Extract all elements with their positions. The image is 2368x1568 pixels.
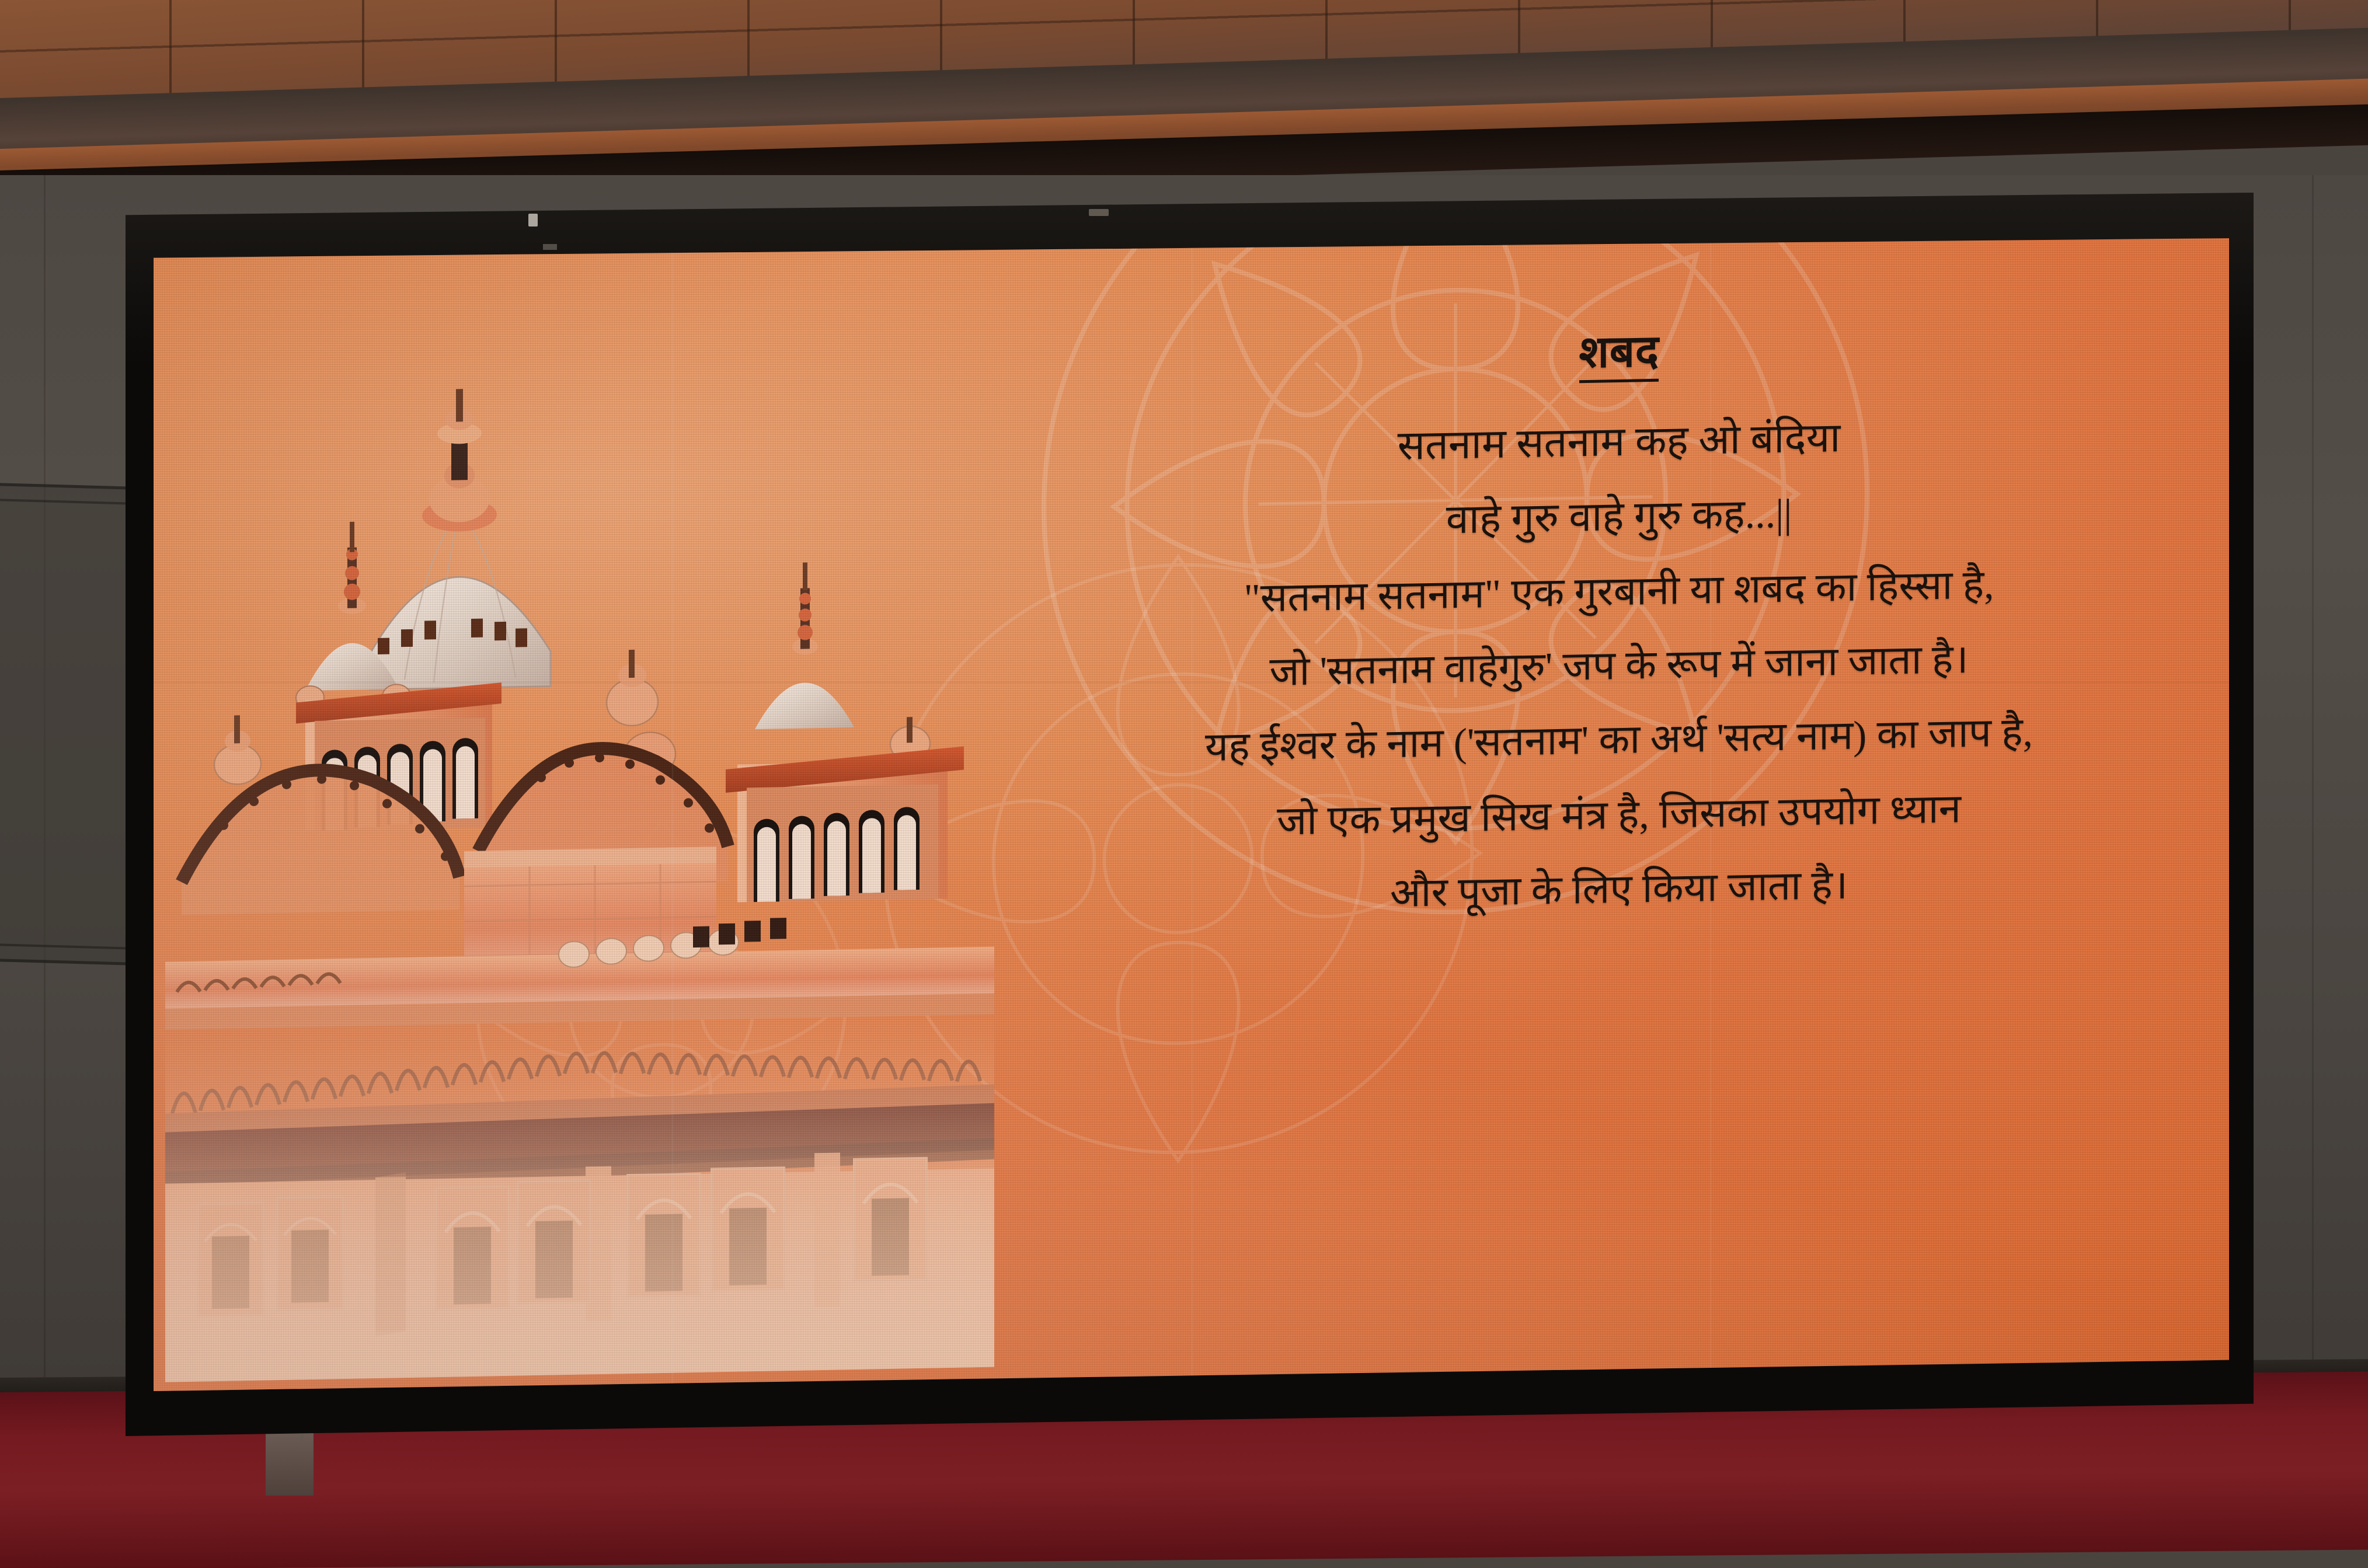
panel-module-seam — [1710, 238, 1711, 1391]
slide-surface[interactable]: शबद सतनाम सतनाम कह ओ बंदिया वाहे गुरु वा… — [154, 238, 2229, 1391]
led-video-wall[interactable]: शबद सतनाम सतनाम कह ओ बंदिया वाहे गुरु वा… — [126, 193, 2254, 1436]
slide-text-block: शबद सतनाम सतनाम कह ओ बंदिया वाहे गुरु वा… — [1047, 318, 2191, 953]
framed-wall-panel-inner — [0, 498, 130, 949]
bezel-marking — [543, 244, 557, 250]
framed-wall-panel — [0, 482, 146, 966]
gurdwara-temple-illustration — [165, 293, 994, 1382]
slide-line-2: वाहे गुरु वाहे गुरु कह...|| — [1047, 485, 2191, 549]
floor-box — [266, 1431, 314, 1496]
panel-module-seam — [154, 682, 2229, 683]
slide-line-6: जो एक प्रमुख सिख मंत्र है, जिसका उपयोग ध… — [1047, 783, 2191, 847]
slide-line-1: सतनाम सतनाम कह ओ बंदिया — [1047, 410, 2191, 475]
ir-sensor-icon — [528, 214, 538, 227]
slide-title: शबद — [1579, 327, 1659, 383]
slide-line-5: यह ईश्वर के नाम ('सतनाम' का अर्थ 'सत्य न… — [1047, 708, 2191, 772]
panel-module-seam — [672, 238, 673, 1391]
conference-room-scene: शबद सतनाम सतनाम कह ओ बंदिया वाहे गुरु वा… — [0, 0, 2368, 1568]
wall-seam — [2312, 175, 2314, 1378]
status-led-icon — [1089, 209, 1109, 216]
slide-line-3: "सतनाम सतनाम" एक गुरबानी या शबद का हिस्स… — [1047, 560, 2191, 623]
panel-module-seam — [1192, 238, 1193, 1391]
slide-line-7: और पूजा के लिए किया जाता है। — [1047, 858, 2191, 922]
slide-line-4: जो 'सतनाम वाहेगुरु' जप के रूप में जाना ज… — [1047, 634, 2191, 698]
